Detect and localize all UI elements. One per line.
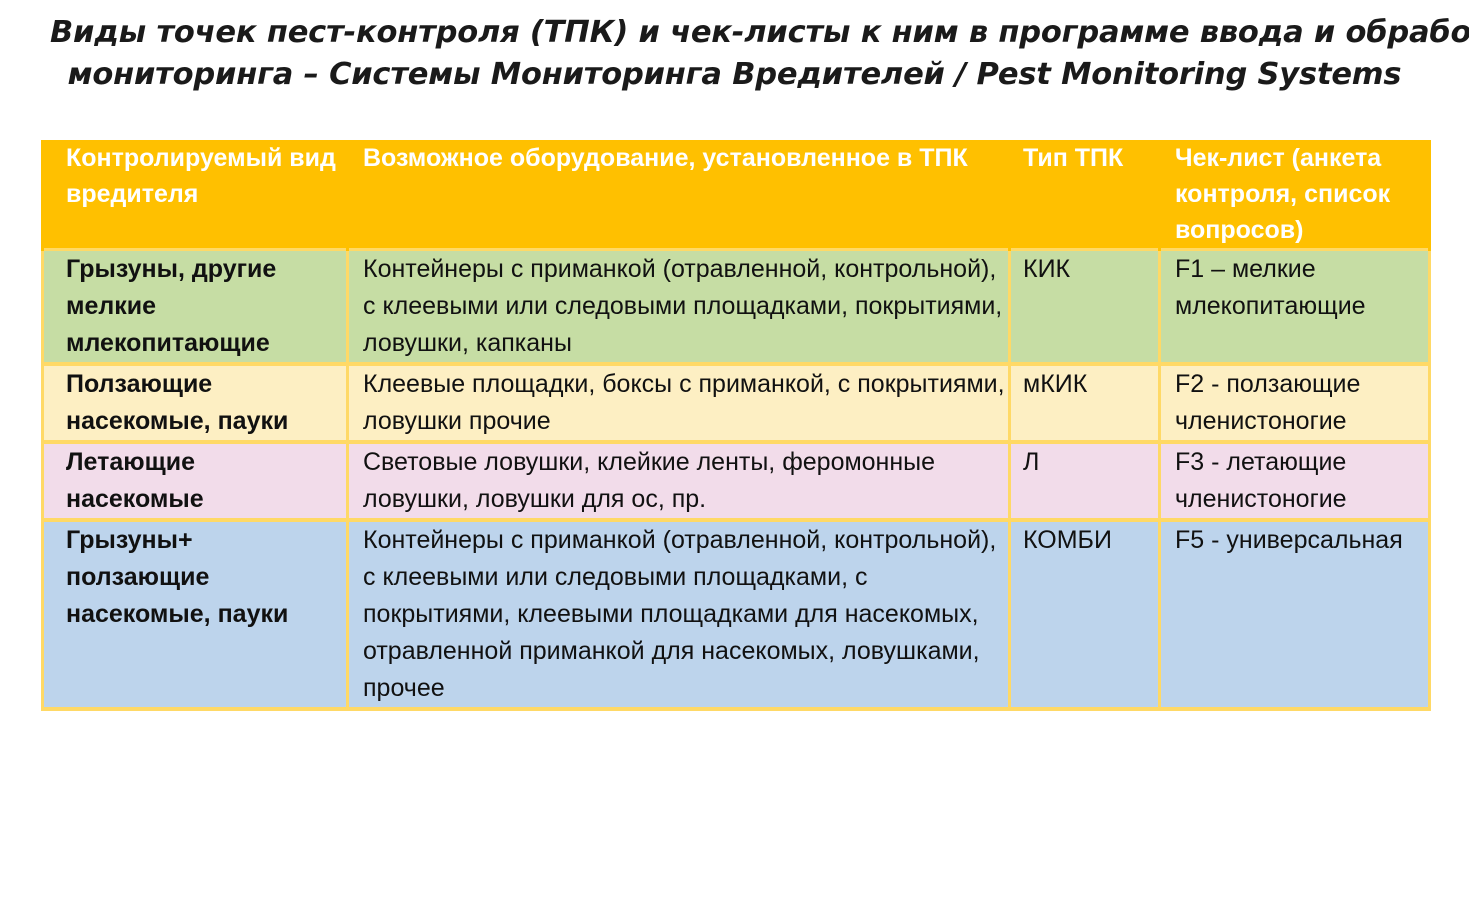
- page-title: Виды точек пест-контроля (ТПК) и чек-лис…: [0, 0, 1469, 96]
- cell-equipment: Контейнеры с приманкой (отравленной, кон…: [348, 520, 1010, 709]
- cell-pest-type: Летающие насекомые: [43, 442, 348, 520]
- page-title-line-2: мониторинга – Системы Мониторинга Вредит…: [50, 54, 1419, 96]
- column-header-equipment: Возможное оборудование, установленное в …: [348, 140, 1010, 250]
- cell-tpk-type: мКИК: [1010, 364, 1160, 442]
- table-row: Грызуны+ ползающие насекомые, пауки Конт…: [43, 520, 1430, 709]
- table-row: Ползающие насекомые, пауки Клеевые площа…: [43, 364, 1430, 442]
- cell-checklist: F1 – мелкие млекопитающие: [1160, 250, 1430, 365]
- table-header: Контролируемый вид вредителя Возможное о…: [43, 140, 1430, 250]
- column-header-tpk-type: Тип ТПК: [1010, 140, 1160, 250]
- cell-equipment: Клеевые площадки, боксы с приманкой, с п…: [348, 364, 1010, 442]
- slide-root: Виды точек пест-контроля (ТПК) и чек-лис…: [0, 0, 1469, 906]
- cell-equipment: Световые ловушки, клейкие ленты, феромон…: [348, 442, 1010, 520]
- column-header-checklist: Чек-лист (анкета контроля, список вопрос…: [1160, 140, 1430, 250]
- cell-tpk-type: Л: [1010, 442, 1160, 520]
- cell-pest-type: Ползающие насекомые, пауки: [43, 364, 348, 442]
- cell-checklist: F5 - универсальная: [1160, 520, 1430, 709]
- cell-checklist: F2 - ползающие членистоногие: [1160, 364, 1430, 442]
- column-header-pest-type: Контролируемый вид вредителя: [43, 140, 348, 250]
- cell-equipment: Контейнеры с приманкой (отравленной, кон…: [348, 250, 1010, 365]
- table-body: Грызуны, другие мелкие млекопитающие Кон…: [43, 250, 1430, 710]
- table-header-row: Контролируемый вид вредителя Возможное о…: [43, 140, 1430, 250]
- pest-control-table: Контролируемый вид вредителя Возможное о…: [41, 140, 1431, 711]
- cell-tpk-type: КОМБИ: [1010, 520, 1160, 709]
- table-row: Грызуны, другие мелкие млекопитающие Кон…: [43, 250, 1430, 365]
- table-row: Летающие насекомые Световые ловушки, кле…: [43, 442, 1430, 520]
- pest-control-table-wrapper: Контролируемый вид вредителя Возможное о…: [41, 140, 1428, 711]
- cell-checklist: F3 - летающие членистоногие: [1160, 442, 1430, 520]
- cell-pest-type: Грызуны, другие мелкие млекопитающие: [43, 250, 348, 365]
- cell-tpk-type: КИК: [1010, 250, 1160, 365]
- cell-pest-type: Грызуны+ ползающие насекомые, пауки: [43, 520, 348, 709]
- page-title-line-1: Виды точек пест-контроля (ТПК) и чек-лис…: [50, 12, 1419, 54]
